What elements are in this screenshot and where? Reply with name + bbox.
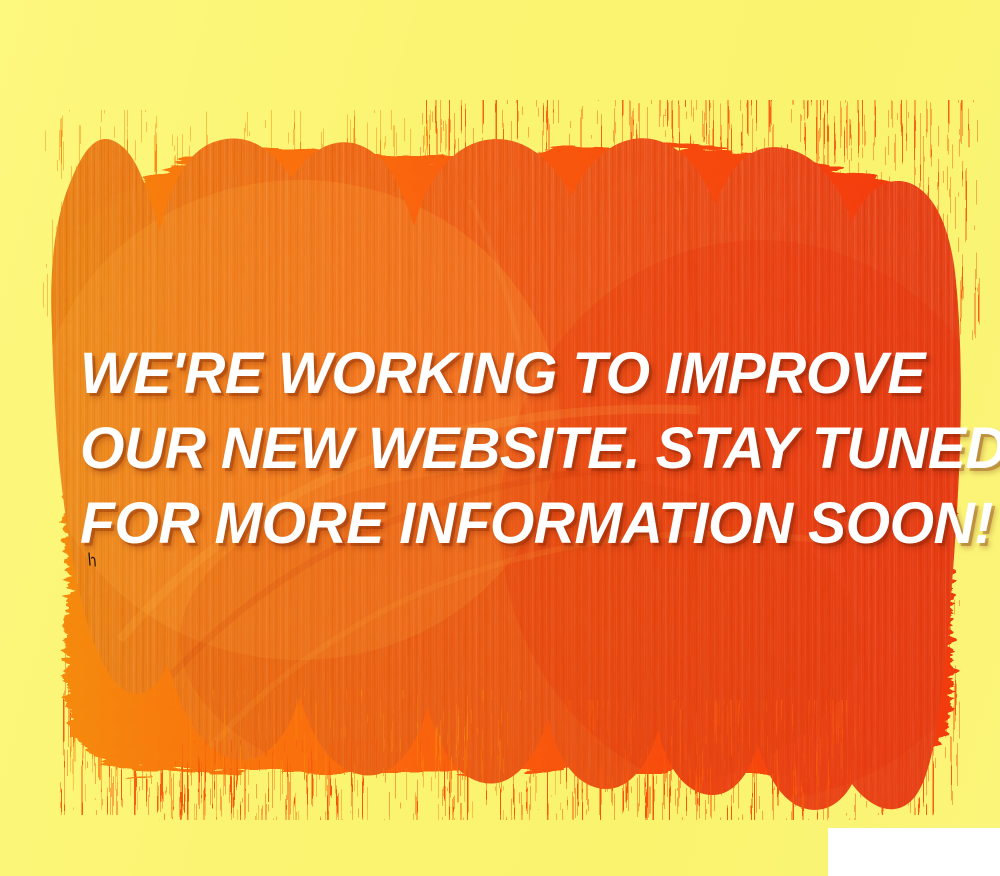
banner-canvas: WE'RE WORKING TO IMPROVE OUR NEW WEBSITE…	[0, 0, 1000, 876]
headline-line-2: OUR NEW WEBSITE. STAY TUNED	[80, 411, 937, 486]
headline-line-1: WE'RE WORKING TO IMPROVE	[80, 336, 937, 411]
headline-line-3: FOR MORE INFORMATION SOON!	[80, 486, 937, 561]
white-corner-block	[828, 828, 1000, 876]
headline: WE'RE WORKING TO IMPROVE OUR NEW WEBSITE…	[80, 336, 950, 561]
